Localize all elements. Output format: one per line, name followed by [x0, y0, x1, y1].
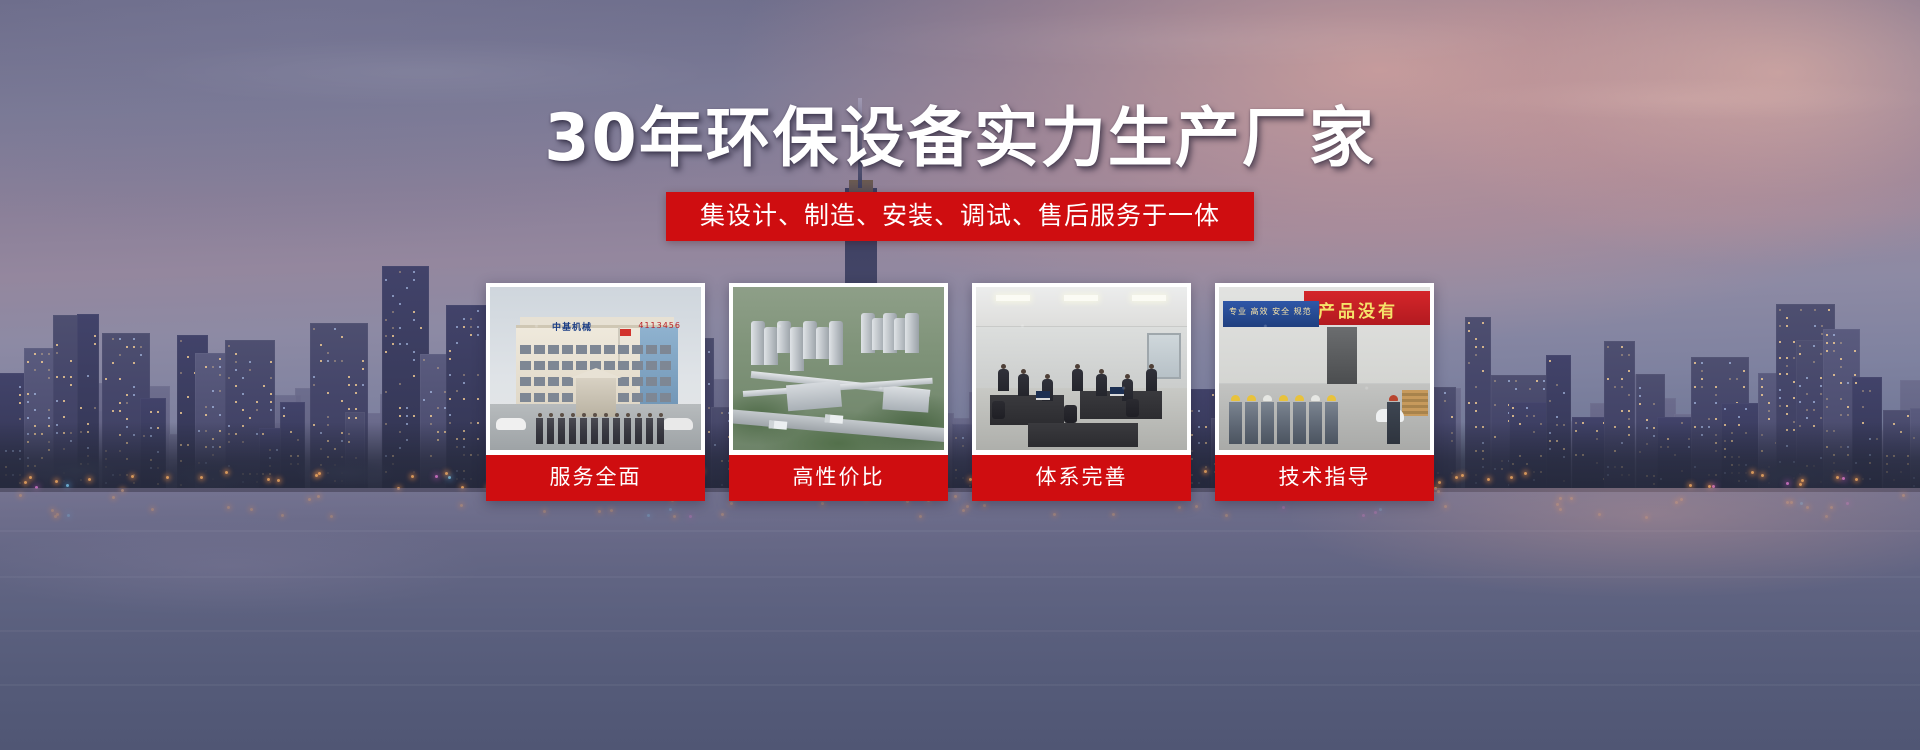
feature-card[interactable]: 产品没有 专业 高效 安全 规范 技术指导	[1215, 283, 1434, 501]
factory-red-sign-text: 产品没有	[1318, 297, 1398, 322]
card-photo-plant-aerial	[733, 287, 944, 450]
card-caption: 技术指导	[1215, 455, 1434, 501]
card-photo-office-interior	[976, 287, 1187, 450]
feature-card[interactable]: 高性价比	[729, 283, 948, 501]
factory-red-sign: 产品没有	[1304, 291, 1430, 325]
building-phone-number: 4113456	[638, 321, 681, 330]
factory-blue-banner-text: 专业 高效 安全 规范	[1229, 306, 1312, 317]
hero-headline: 30年环保设备实力生产厂家	[0, 103, 1920, 175]
building-company-sign: 中基机械	[552, 320, 592, 333]
card-caption: 体系完善	[972, 455, 1191, 501]
feature-card[interactable]: 中基机械 4113456 服务全面	[486, 283, 705, 501]
subtitle-row: 集设计、制造、安装、调试、售后服务于一体	[0, 192, 1920, 241]
card-photo-office-building: 中基机械 4113456	[490, 287, 701, 450]
card-caption: 服务全面	[486, 455, 705, 501]
card-caption: 高性价比	[729, 455, 948, 501]
hero-subtitle-banner: 集设计、制造、安装、调试、售后服务于一体	[666, 192, 1254, 241]
feature-card-row: 中基机械 4113456 服务全面	[0, 283, 1920, 501]
hero-banner: 30年环保设备实力生产厂家 集设计、制造、安装、调试、售后服务于一体 中基机械 …	[0, 0, 1920, 750]
river-water	[0, 488, 1920, 750]
factory-blue-banner: 专业 高效 安全 规范	[1223, 301, 1319, 327]
card-photo-factory-workers: 产品没有 专业 高效 安全 规范	[1219, 287, 1430, 450]
feature-card[interactable]: 体系完善	[972, 283, 1191, 501]
